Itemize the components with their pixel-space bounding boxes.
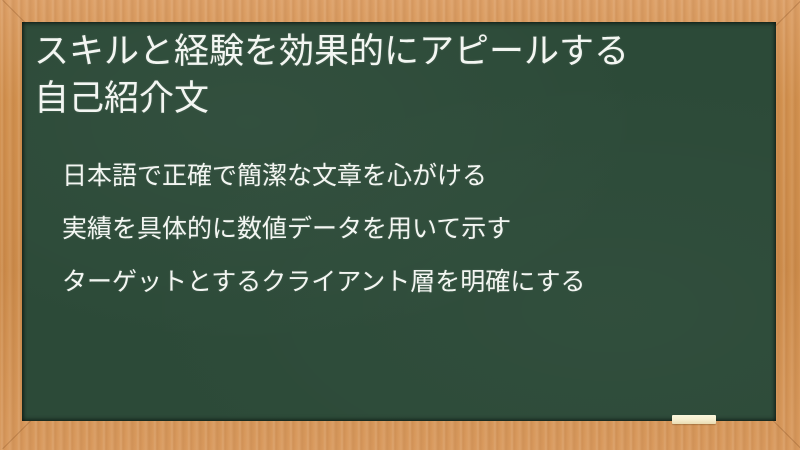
chalkboard-surface: スキルと経験を効果的にアピールする 自己紹介文 日本語で正確で簡潔な文章を心がけ… (22, 22, 776, 421)
chalkboard-slide: スキルと経験を効果的にアピールする 自己紹介文 日本語で正確で簡潔な文章を心がけ… (0, 0, 800, 450)
page-title: スキルと経験を効果的にアピールする 自己紹介文 (34, 28, 734, 122)
list-item: ターゲットとするクライアント層を明確にする (62, 268, 752, 296)
list-item: 実績を具体的に数値データを用いて示す (62, 215, 752, 243)
page-title-line-1: スキルと経験を効果的にアピールする (34, 28, 734, 75)
bullet-list: 日本語で正確で簡潔な文章を心がける 実績を具体的に数値データを用いて示す ターゲ… (62, 162, 752, 296)
list-item: 日本語で正確で簡潔な文章を心がける (62, 162, 752, 190)
page-title-line-2: 自己紹介文 (34, 75, 734, 122)
chalk-stick (672, 415, 716, 424)
